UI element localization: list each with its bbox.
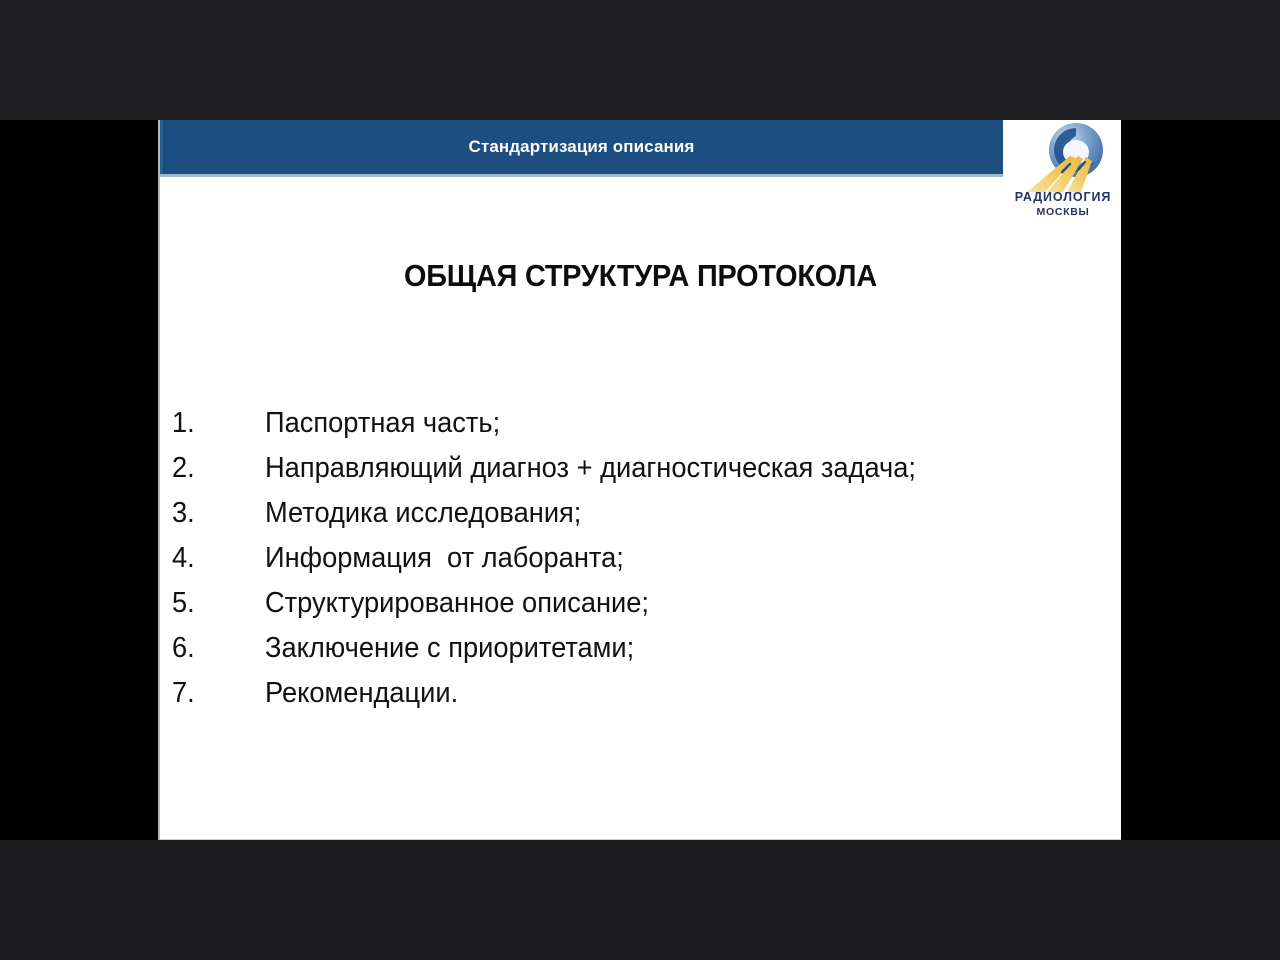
list-item-text: Направляющий диагноз + диагностическая з… xyxy=(265,446,916,491)
slide-header-bar: Стандартизация описания xyxy=(160,120,1003,177)
list-item-number: 6. xyxy=(172,626,259,671)
list-item-text: Паспортная часть; xyxy=(265,401,500,446)
protocol-structure-list: 1. Паспортная часть; 2. Направляющий диа… xyxy=(172,401,1112,716)
list-item: 1. Паспортная часть; xyxy=(172,401,1112,446)
list-item-number: 1. xyxy=(172,401,259,446)
list-item-number: 5. xyxy=(172,581,259,626)
list-item: 7. Рекомендации. xyxy=(172,671,1112,716)
list-item-text: Методика исследования; xyxy=(265,491,581,536)
presentation-slide: Стандартизация описания xyxy=(158,120,1121,840)
list-item-text: Заключение с приоритетами; xyxy=(265,626,634,671)
list-item: 6. Заключение с приоритетами; xyxy=(172,626,1112,671)
list-item: 2. Направляющий диагноз + диагностическа… xyxy=(172,446,1112,491)
list-item-number: 7. xyxy=(172,671,259,716)
list-item-number: 2. xyxy=(172,446,259,491)
slide-header: Стандартизация описания xyxy=(160,120,1121,180)
letterbox-bottom xyxy=(0,840,1280,960)
slide-header-title: Стандартизация описания xyxy=(469,137,695,157)
slide-title: ОБЩАЯ СТРУКТУРА ПРОТОКОЛА xyxy=(194,258,1088,294)
pillarbox-left xyxy=(0,120,158,840)
list-item-text: Структурированное описание; xyxy=(265,581,649,626)
brand-logo: РАДИОЛОГИЯ МОСКВЫ xyxy=(1005,120,1121,236)
video-viewer: Стандартизация описания xyxy=(0,0,1280,960)
logo-wordmark-line1: РАДИОЛОГИЯ xyxy=(1005,190,1121,205)
logo-wordmark: РАДИОЛОГИЯ МОСКВЫ xyxy=(1005,190,1121,219)
list-item: 5. Структурированное описание; xyxy=(172,581,1112,626)
list-item: 4. Информация от лаборанта; xyxy=(172,536,1112,581)
letterbox-top xyxy=(0,0,1280,120)
radiology-swirl-icon xyxy=(1023,122,1107,196)
list-item: 3. Методика исследования; xyxy=(172,491,1112,536)
list-item-text: Рекомендации. xyxy=(265,671,458,716)
list-item-number: 3. xyxy=(172,491,259,536)
pillarbox-right xyxy=(1121,120,1280,840)
list-item-text: Информация от лаборанта; xyxy=(265,536,624,581)
list-item-number: 4. xyxy=(172,536,259,581)
logo-wordmark-line2: МОСКВЫ xyxy=(1005,205,1121,219)
